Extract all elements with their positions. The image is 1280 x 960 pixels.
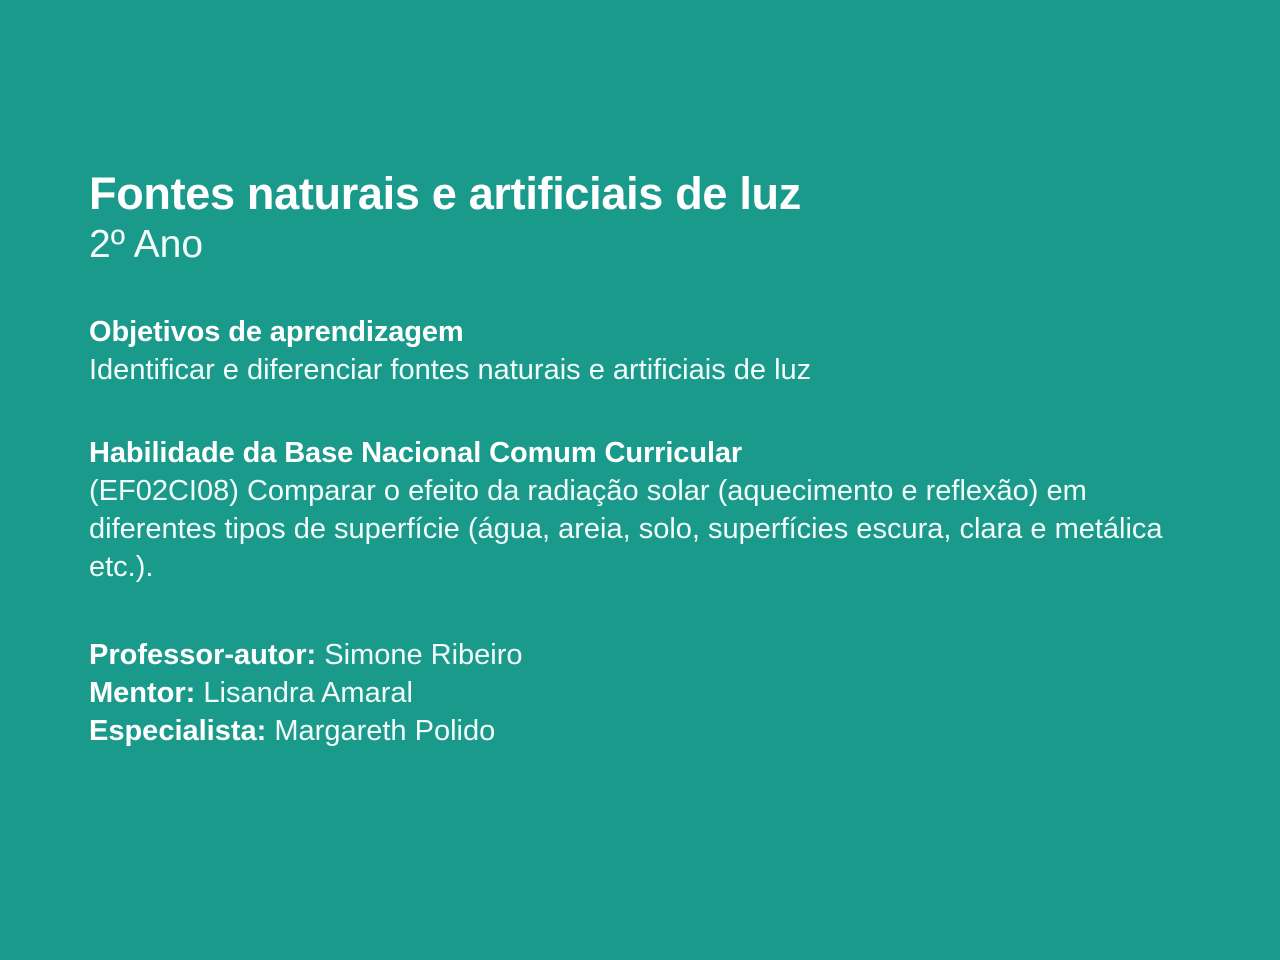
section-learning-objectives: Objetivos de aprendizagem Identificar e … [89,314,1209,389]
credit-value-especialista: Margareth Polido [274,715,495,747]
learning-objectives-text: Identificar e diferenciar fontes naturai… [89,351,1209,389]
credit-label-mentor: Mentor: [89,677,195,709]
credit-label-professor: Professor-autor: [89,639,316,671]
page-title: Fontes naturais e artificiais de luz [89,168,1209,220]
credit-value-professor: Simone Ribeiro [324,639,522,671]
credit-label-especialista: Especialista: [89,715,266,747]
slide-content: Fontes naturais e artificiais de luz 2º … [89,168,1209,750]
title-block: Fontes naturais e artificiais de luz 2º … [89,168,1209,268]
section-bncc-skill: Habilidade da Base Nacional Comum Curric… [89,435,1209,586]
credit-value-mentor: Lisandra Amaral [203,677,413,709]
slide-canvas: Fontes naturais e artificiais de luz 2º … [0,0,1280,960]
credits-block: Professor-autor: Simone Ribeiro Mentor: … [89,636,1209,750]
page-subtitle: 2º Ano [89,222,1209,268]
credit-line: Especialista: Margareth Polido [89,712,1209,750]
bncc-skill-heading: Habilidade da Base Nacional Comum Curric… [89,435,1209,471]
credit-line: Professor-autor: Simone Ribeiro [89,636,1209,674]
learning-objectives-heading: Objetivos de aprendizagem [89,314,1209,350]
credit-line: Mentor: Lisandra Amaral [89,674,1209,712]
bncc-skill-text: (EF02CI08) Comparar o efeito da radiação… [89,472,1199,586]
